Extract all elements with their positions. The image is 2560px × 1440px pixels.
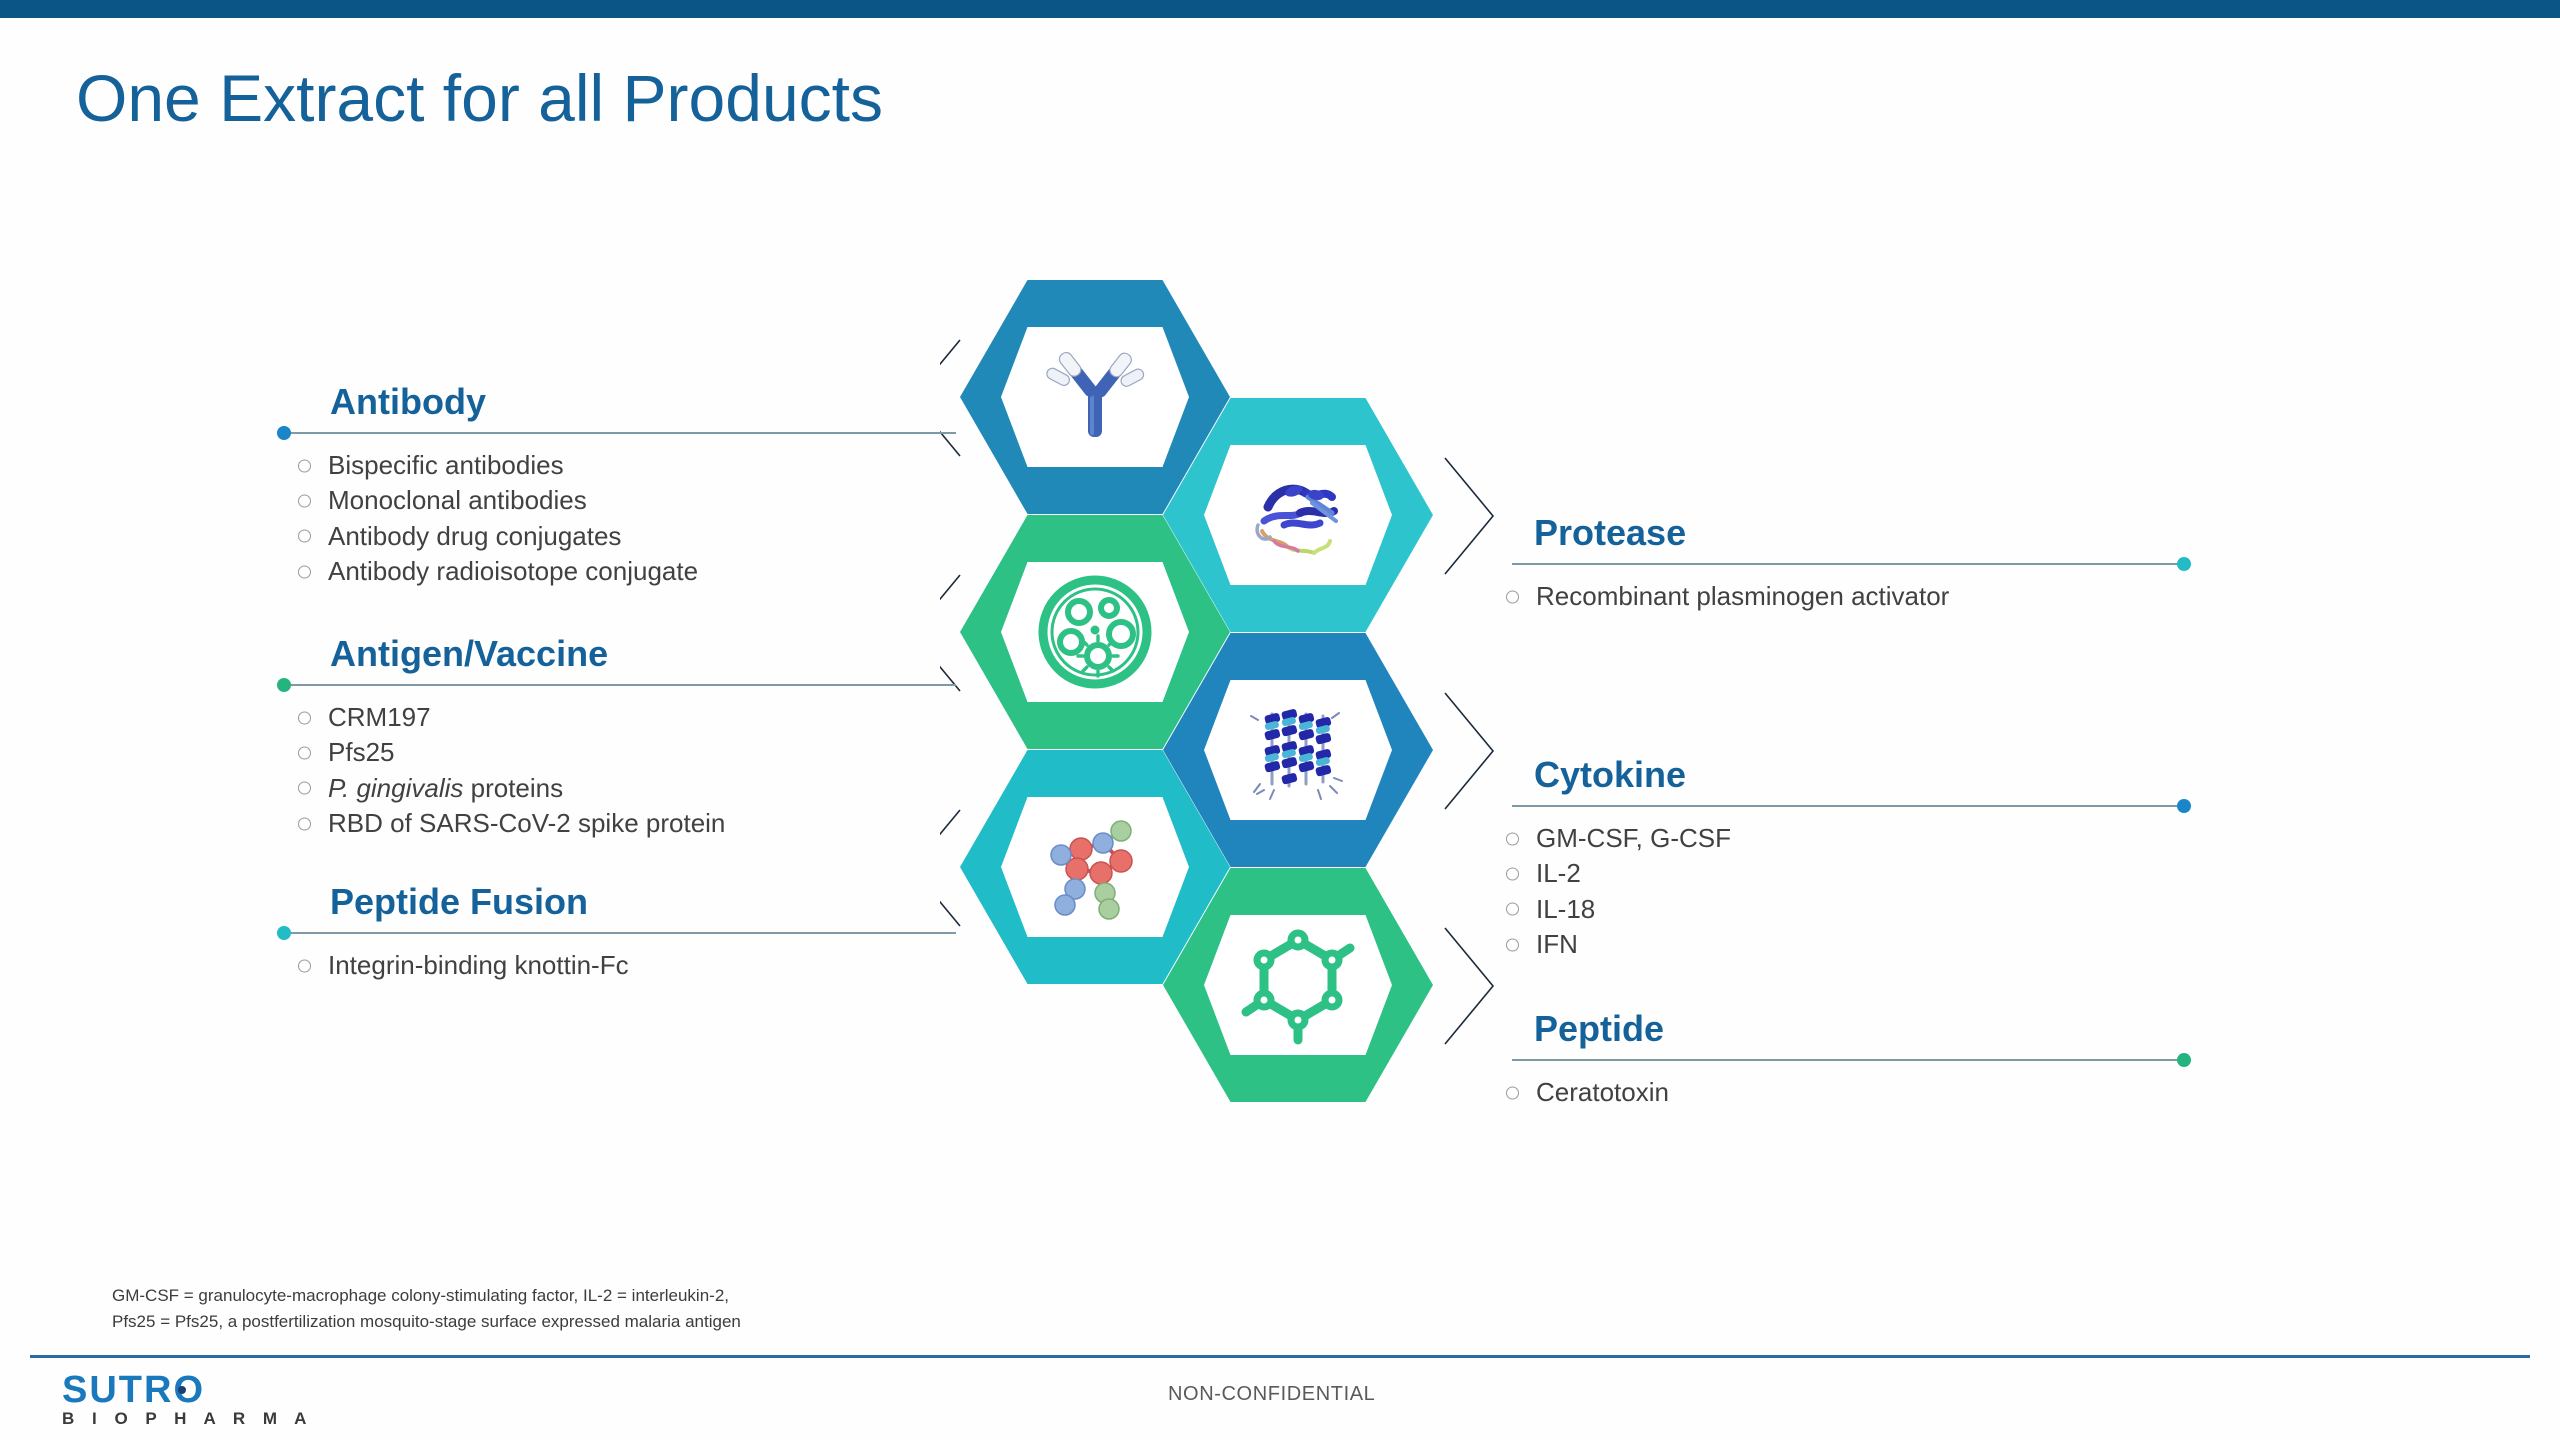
bullet-list-peptide-fusion: Integrin-binding knottin-Fc xyxy=(284,948,629,983)
leader-line-antibody xyxy=(284,432,956,434)
list-item: Pfs25 xyxy=(284,735,725,770)
leader-dot-peptide-fusion xyxy=(277,926,291,940)
logo-name-part1: SUTR xyxy=(62,1369,173,1411)
list-item: Antibody drug conjugates xyxy=(284,519,698,554)
list-item: P. gingivalis proteins xyxy=(284,771,725,806)
bullet-circle-icon xyxy=(298,817,311,830)
footer-divider xyxy=(30,1355,2530,1358)
list-item: IFN xyxy=(1492,927,1731,962)
bullet-circle-icon xyxy=(1506,903,1519,916)
bullet-circle-icon xyxy=(298,959,311,972)
leader-dot-antibody xyxy=(277,426,291,440)
leader-dot-cytokine xyxy=(2177,799,2191,813)
bullet-circle-icon xyxy=(298,747,311,760)
footnote-line-1: GM-CSF = granulocyte-macrophage colony-s… xyxy=(112,1283,741,1309)
leader-dot-antigen-vaccine xyxy=(277,678,291,692)
leader-line-cytokine xyxy=(1512,805,2184,807)
bullet-circle-icon xyxy=(1506,1086,1519,1099)
footnote-line-2: Pfs25 = Pfs25, a postfertilization mosqu… xyxy=(112,1309,741,1335)
bullet-circle-icon xyxy=(298,459,311,472)
bullet-list-protease: Recombinant plasminogen activator xyxy=(1492,579,1949,614)
leader-dot-protease xyxy=(2177,557,2191,571)
list-item: GM-CSF, G-CSF xyxy=(1492,821,1731,856)
bullet-circle-icon xyxy=(1506,938,1519,951)
hexagon-cluster xyxy=(940,270,1520,1190)
list-item: IL-2 xyxy=(1492,856,1731,891)
connector-chevrons-right xyxy=(1445,458,1493,1044)
bullet-circle-icon xyxy=(1506,832,1519,845)
list-item: Monoclonal antibodies xyxy=(284,483,698,518)
leader-dot-peptide xyxy=(2177,1053,2191,1067)
list-item: Bispecific antibodies xyxy=(284,448,698,483)
connector-chevrons-left xyxy=(940,340,960,926)
bullet-circle-icon xyxy=(1506,868,1519,881)
logo-o-with-dot: O xyxy=(173,1372,205,1408)
section-title-peptide: Peptide xyxy=(1534,1011,1664,1047)
logo-wordmark: SUTRO xyxy=(62,1372,313,1408)
footnote: GM-CSF = granulocyte-macrophage colony-s… xyxy=(112,1283,741,1334)
page-title: One Extract for all Products xyxy=(76,60,883,136)
italic-species-name: P. gingivalis xyxy=(328,773,463,803)
bullet-circle-icon xyxy=(298,711,311,724)
leader-line-protease xyxy=(1512,563,2184,565)
list-item: IL-18 xyxy=(1492,892,1731,927)
leader-line-peptide-fusion xyxy=(284,932,956,934)
bullet-list-cytokine: GM-CSF, G-CSF IL-2 IL-18 IFN xyxy=(1492,821,1731,962)
slide-canvas: One Extract for all Products xyxy=(0,0,2560,1440)
bullet-circle-icon xyxy=(298,565,311,578)
section-title-peptide-fusion: Peptide Fusion xyxy=(330,884,588,920)
bullet-circle-icon xyxy=(298,530,311,543)
bullet-circle-icon xyxy=(298,495,311,508)
sutro-biopharma-logo: SUTRO B I O P H A R M A xyxy=(62,1372,313,1427)
leader-line-peptide xyxy=(1512,1059,2184,1061)
list-item: Integrin-binding knottin-Fc xyxy=(284,948,629,983)
list-item: RBD of SARS-CoV-2 spike protein xyxy=(284,806,725,841)
list-item: Recombinant plasminogen activator xyxy=(1492,579,1949,614)
logo-subtitle: B I O P H A R M A xyxy=(62,1410,313,1427)
list-item: CRM197 xyxy=(284,700,725,735)
leader-line-antigen-vaccine xyxy=(284,684,956,686)
bullet-list-antibody: Bispecific antibodies Monoclonal antibod… xyxy=(284,448,698,589)
section-title-antibody: Antibody xyxy=(330,384,486,420)
section-title-protease: Protease xyxy=(1534,515,1686,551)
top-accent-bar xyxy=(0,0,2560,18)
bullet-circle-icon xyxy=(1506,590,1519,603)
list-item: Antibody radioisotope conjugate xyxy=(284,554,698,589)
bullet-list-antigen-vaccine: CRM197 Pfs25 P. gingivalis proteins RBD … xyxy=(284,700,725,841)
section-title-cytokine: Cytokine xyxy=(1534,757,1686,793)
list-item: Ceratotoxin xyxy=(1492,1075,1669,1110)
bullet-circle-icon xyxy=(298,782,311,795)
section-title-antigen-vaccine: Antigen/Vaccine xyxy=(330,636,608,672)
bullet-list-peptide: Ceratotoxin xyxy=(1492,1075,1669,1110)
confidentiality-label: NON-CONFIDENTIAL xyxy=(1168,1383,1375,1406)
